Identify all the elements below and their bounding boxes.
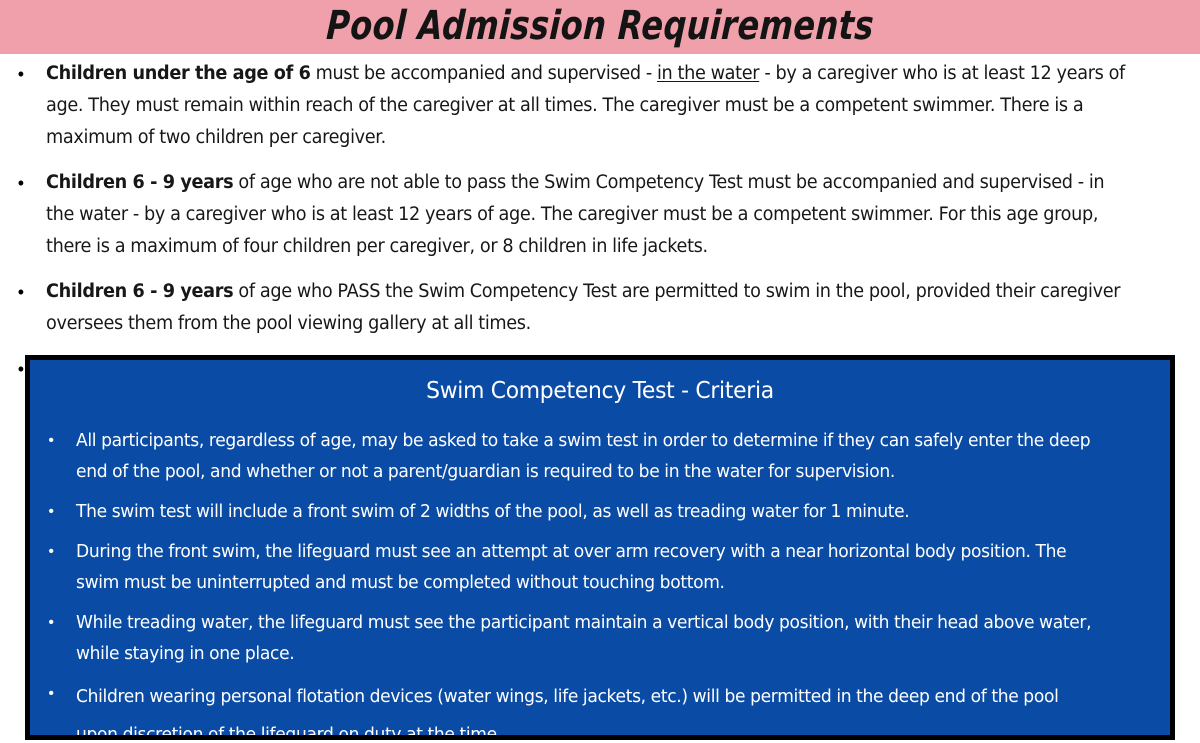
list-item: • Children 6 - 9 years of age who are no… [0, 167, 1200, 263]
bullet-icon: • [30, 607, 76, 638]
admission-requirements-list: • Children under the age of 6 must be ac… [0, 58, 1200, 385]
bullet-icon: • [0, 58, 46, 90]
list-item-text: The swim test will include a front swim … [76, 496, 1096, 527]
list-item: • The swim test will include a front swi… [30, 496, 1150, 527]
list-item-text: Children wearing personal flotation devi… [76, 678, 1096, 740]
bullet-icon: • [30, 678, 76, 709]
bullet-icon: • [0, 167, 46, 199]
list-item: • While treading water, the lifeguard mu… [30, 607, 1150, 669]
criteria-box-heading: Swim Competency Test - Criteria [59, 360, 1142, 425]
list-item: • Children 6 - 9 years of age who PASS t… [0, 276, 1200, 340]
list-item: • All participants, regardless of age, m… [30, 425, 1150, 487]
swim-competency-test-box: Swim Competency Test - Criteria • All pa… [25, 355, 1175, 740]
list-item-emphasis: in the water [657, 63, 759, 84]
list-item-text: While treading water, the lifeguard must… [76, 607, 1096, 669]
list-item: • Children under the age of 6 must be ac… [0, 58, 1200, 154]
list-item-text: During the front swim, the lifeguard mus… [76, 536, 1096, 598]
bullet-icon: • [0, 276, 46, 308]
page-title: Pool Admission Requirements [325, 6, 875, 49]
criteria-list: • All participants, regardless of age, m… [30, 425, 1170, 740]
bullet-icon: • [30, 425, 76, 456]
poster-page: Pool Admission Requirements • Children u… [0, 0, 1200, 743]
list-item: • Children wearing personal flotation de… [30, 678, 1150, 740]
list-item-lead: Children under the age of 6 [46, 63, 311, 84]
title-band: Pool Admission Requirements [0, 0, 1200, 54]
list-item-text: Children 6 - 9 years of age who are not … [46, 167, 1127, 263]
list-item: • During the front swim, the lifeguard m… [30, 536, 1150, 598]
bullet-icon: • [30, 536, 76, 567]
list-item-lead: Children 6 - 9 years [46, 281, 233, 302]
list-item-body-pre: must be accompanied and supervised - [311, 63, 657, 84]
list-item-text: All participants, regardless of age, may… [76, 425, 1096, 487]
bullet-icon: • [30, 496, 76, 527]
list-item-text: Children 6 - 9 years of age who PASS the… [46, 276, 1127, 340]
list-item-lead: Children 6 - 9 years [46, 172, 233, 193]
list-item-text: Children under the age of 6 must be acco… [46, 58, 1127, 154]
